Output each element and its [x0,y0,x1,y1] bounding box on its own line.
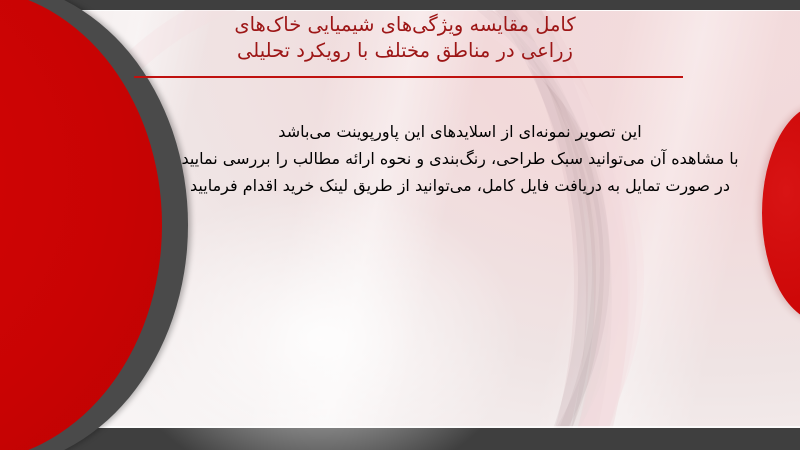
slide-body-text: این تصویر نمونه‌ای از اسلایدهای این پاور… [150,118,770,199]
title-underline-rule [134,76,683,78]
slide-title-line-1: کامل مقایسه ویژگی‌های شیمیایی خاک‌های [120,12,690,38]
slide-body-line-1: این تصویر نمونه‌ای از اسلایدهای این پاور… [150,118,770,145]
slide-title: کامل مقایسه ویژگی‌های شیمیایی خاک‌های زر… [120,12,690,64]
slide-body-line-2: با مشاهده آن می‌توانید سبک طراحی، رنگ‌بن… [150,145,770,172]
slide-body-line-3: در صورت تمایل به دریافت فایل کامل، می‌تو… [150,172,770,199]
slide-canvas: کامل مقایسه ویژگی‌های شیمیایی خاک‌های زر… [0,0,800,450]
plate-bottom-edge [0,426,800,428]
slide-title-line-2: زراعی در مناطق مختلف با رویکرد تحلیلی [120,38,690,64]
